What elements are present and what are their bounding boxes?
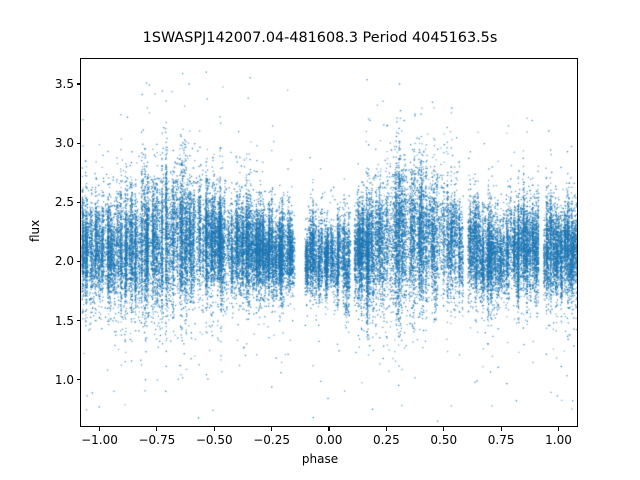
y-tick-mark (77, 83, 81, 84)
plot-area (80, 58, 578, 427)
y-tick-mark (77, 320, 81, 321)
y-tick-mark (77, 379, 81, 380)
chart-title: 1SWASPJ142007.04-481608.3 Period 4045163… (0, 30, 640, 46)
scatter-points-canvas (81, 59, 578, 427)
x-tick-mark (443, 427, 444, 431)
x-tick-mark (214, 427, 215, 431)
y-tick-label: 1.0 (30, 373, 74, 387)
x-tick-label: 1.00 (523, 433, 593, 447)
x-tick-mark (501, 427, 502, 431)
x-tick-mark (386, 427, 387, 431)
y-tick-label: 3.5 (30, 77, 74, 91)
x-tick-mark (558, 427, 559, 431)
x-tick-mark (99, 427, 100, 431)
y-tick-label: 1.5 (30, 314, 74, 328)
x-tick-mark (156, 427, 157, 431)
x-tick-mark (328, 427, 329, 431)
x-axis-label: phase (0, 452, 640, 466)
y-tick-mark (77, 143, 81, 144)
y-tick-label: 2.5 (30, 195, 74, 209)
y-tick-mark (77, 202, 81, 203)
y-tick-label: 2.0 (30, 254, 74, 268)
y-axis-label: flux (28, 220, 42, 242)
x-tick-mark (271, 427, 272, 431)
matplotlib-figure: 1SWASPJ142007.04-481608.3 Period 4045163… (0, 0, 640, 480)
y-tick-mark (77, 261, 81, 262)
y-tick-label: 3.0 (30, 136, 74, 150)
